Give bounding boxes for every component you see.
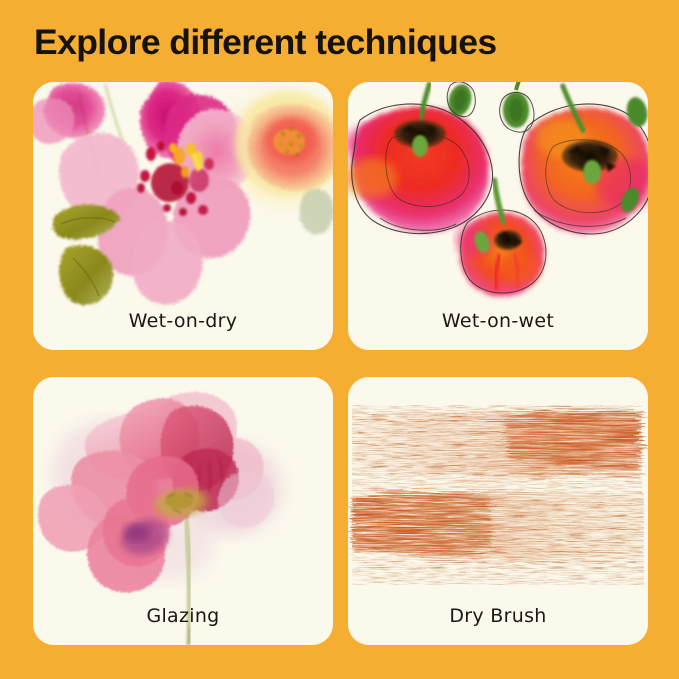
artwork-wet-on-wet [348, 82, 648, 350]
glazing-illustration [33, 377, 333, 645]
technique-card-wet-on-wet[interactable]: Wet-on-wet [348, 82, 648, 350]
artwork-wet-on-dry [33, 82, 333, 350]
poster-canvas: Explore different techniques [0, 0, 679, 679]
artwork-dry-brush [348, 377, 648, 645]
wet-on-dry-illustration [33, 82, 333, 350]
technique-card-glazing[interactable]: Glazing [33, 377, 333, 645]
technique-cards-grid: Wet-on-dry [33, 82, 648, 645]
dry-brush-illustration [348, 377, 648, 645]
page-title: Explore different techniques [34, 19, 654, 65]
artwork-glazing [33, 377, 333, 645]
technique-card-wet-on-dry[interactable]: Wet-on-dry [33, 82, 333, 350]
wet-on-wet-illustration [348, 82, 648, 350]
technique-card-dry-brush[interactable]: Dry Brush [348, 377, 648, 645]
